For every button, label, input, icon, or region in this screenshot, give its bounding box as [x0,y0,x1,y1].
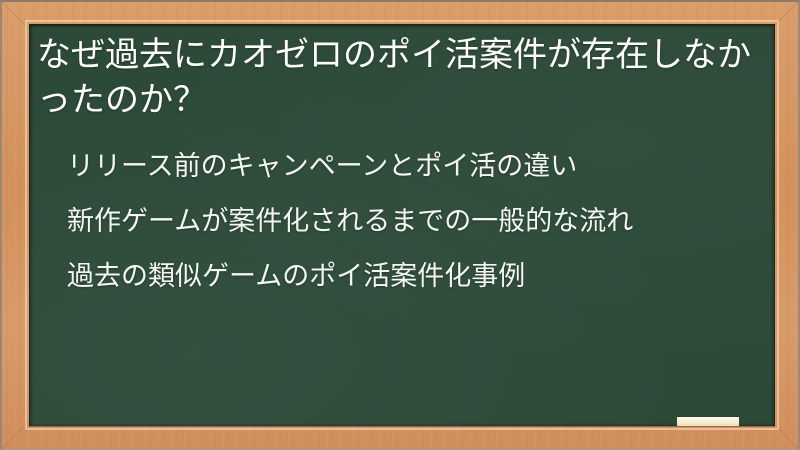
list-item: 新作ゲームが案件化されるまでの一般的な流れ [37,194,757,249]
page-title: なぜ過去にカオゼロのポイ活案件が存在しなかったのか？ [37,33,757,123]
list-item: リリース前のキャンペーンとポイ活の違い [37,139,757,194]
chalkboard-frame: なぜ過去にカオゼロのポイ活案件が存在しなかったのか？ リリース前のキャンペーンと… [0,0,800,450]
chalkboard-surface: なぜ過去にカオゼロのポイ活案件が存在しなかったのか？ リリース前のキャンペーンと… [29,24,775,426]
list-item: 過去の類似ゲームのポイ活案件化事例 [37,249,757,304]
chalk-stick-icon [677,417,739,426]
topic-list: リリース前のキャンペーンとポイ活の違い 新作ゲームが案件化されるまでの一般的な流… [37,139,757,304]
board-content: なぜ過去にカオゼロのポイ活案件が存在しなかったのか？ リリース前のキャンペーンと… [29,24,775,304]
